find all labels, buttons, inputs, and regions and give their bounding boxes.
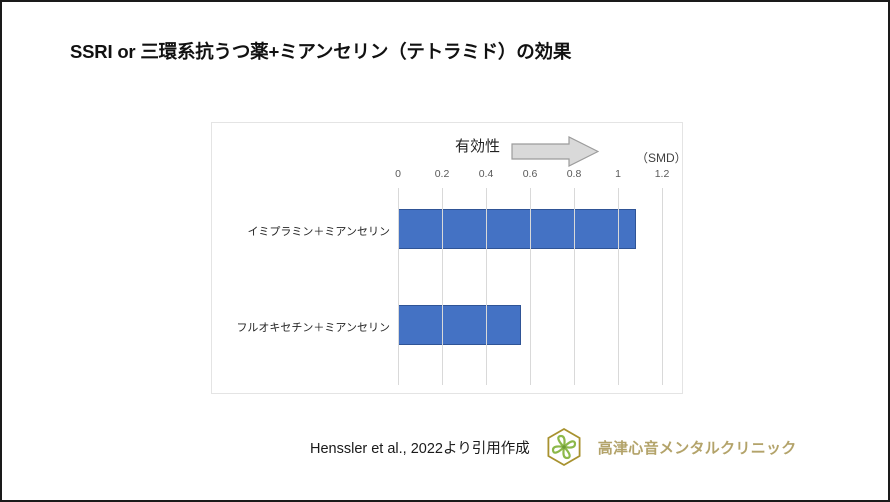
gridline-1 xyxy=(618,188,619,385)
axis-unit-label: （SMD） xyxy=(636,149,687,166)
citation-text: Henssler et al., 2022より引用作成 xyxy=(310,437,530,458)
bar-imipramine-mianserin xyxy=(398,209,636,249)
gridline-0.6 xyxy=(530,188,531,385)
category-label-imipramine: イミプラミン＋ミアンセリン xyxy=(247,223,390,239)
x-tick-label-0.8: 0.8 xyxy=(567,168,582,180)
gridline-0.8 xyxy=(574,188,575,385)
x-tick-label-0.2: 0.2 xyxy=(435,168,450,180)
footer: Henssler et al., 2022より引用作成 高津心音メンタルクリニッ… xyxy=(310,427,797,467)
x-tick-label-0.6: 0.6 xyxy=(523,168,538,180)
gridline-0.2 xyxy=(442,188,443,385)
x-tick-label-1.2: 1.2 xyxy=(655,168,670,180)
efficacy-label: 有効性 xyxy=(455,135,500,156)
slide-canvas: SSRI or 三環系抗うつ薬+ミアンセリン（テトラミド）の効果 有効性 （SM… xyxy=(0,0,890,502)
category-label-fluoxetine: フルオキセチン＋ミアンセリン xyxy=(236,319,390,335)
x-tick-label-0.4: 0.4 xyxy=(479,168,494,180)
x-tick-label-1: 1 xyxy=(615,168,621,180)
gridline-0 xyxy=(398,188,399,385)
hexagon-clover-logo-icon xyxy=(544,427,584,467)
right-block-arrow-icon xyxy=(511,136,599,167)
page-title: SSRI or 三環系抗うつ薬+ミアンセリン（テトラミド）の効果 xyxy=(70,38,571,64)
plot-area: 00.20.40.60.811.2 xyxy=(398,188,662,385)
clinic-name: 高津心音メンタルクリニック xyxy=(598,437,797,458)
chart-container: 有効性 （SMD） イミプラミン＋ミアンセリン フルオキセチン＋ミアンセリン 0… xyxy=(211,122,683,394)
gridline-1.2 xyxy=(662,188,663,385)
gridline-0.4 xyxy=(486,188,487,385)
x-tick-label-0: 0 xyxy=(395,168,401,180)
category-axis: イミプラミン＋ミアンセリン フルオキセチン＋ミアンセリン xyxy=(212,188,390,385)
bar-fluoxetine-mianserin xyxy=(398,305,521,345)
